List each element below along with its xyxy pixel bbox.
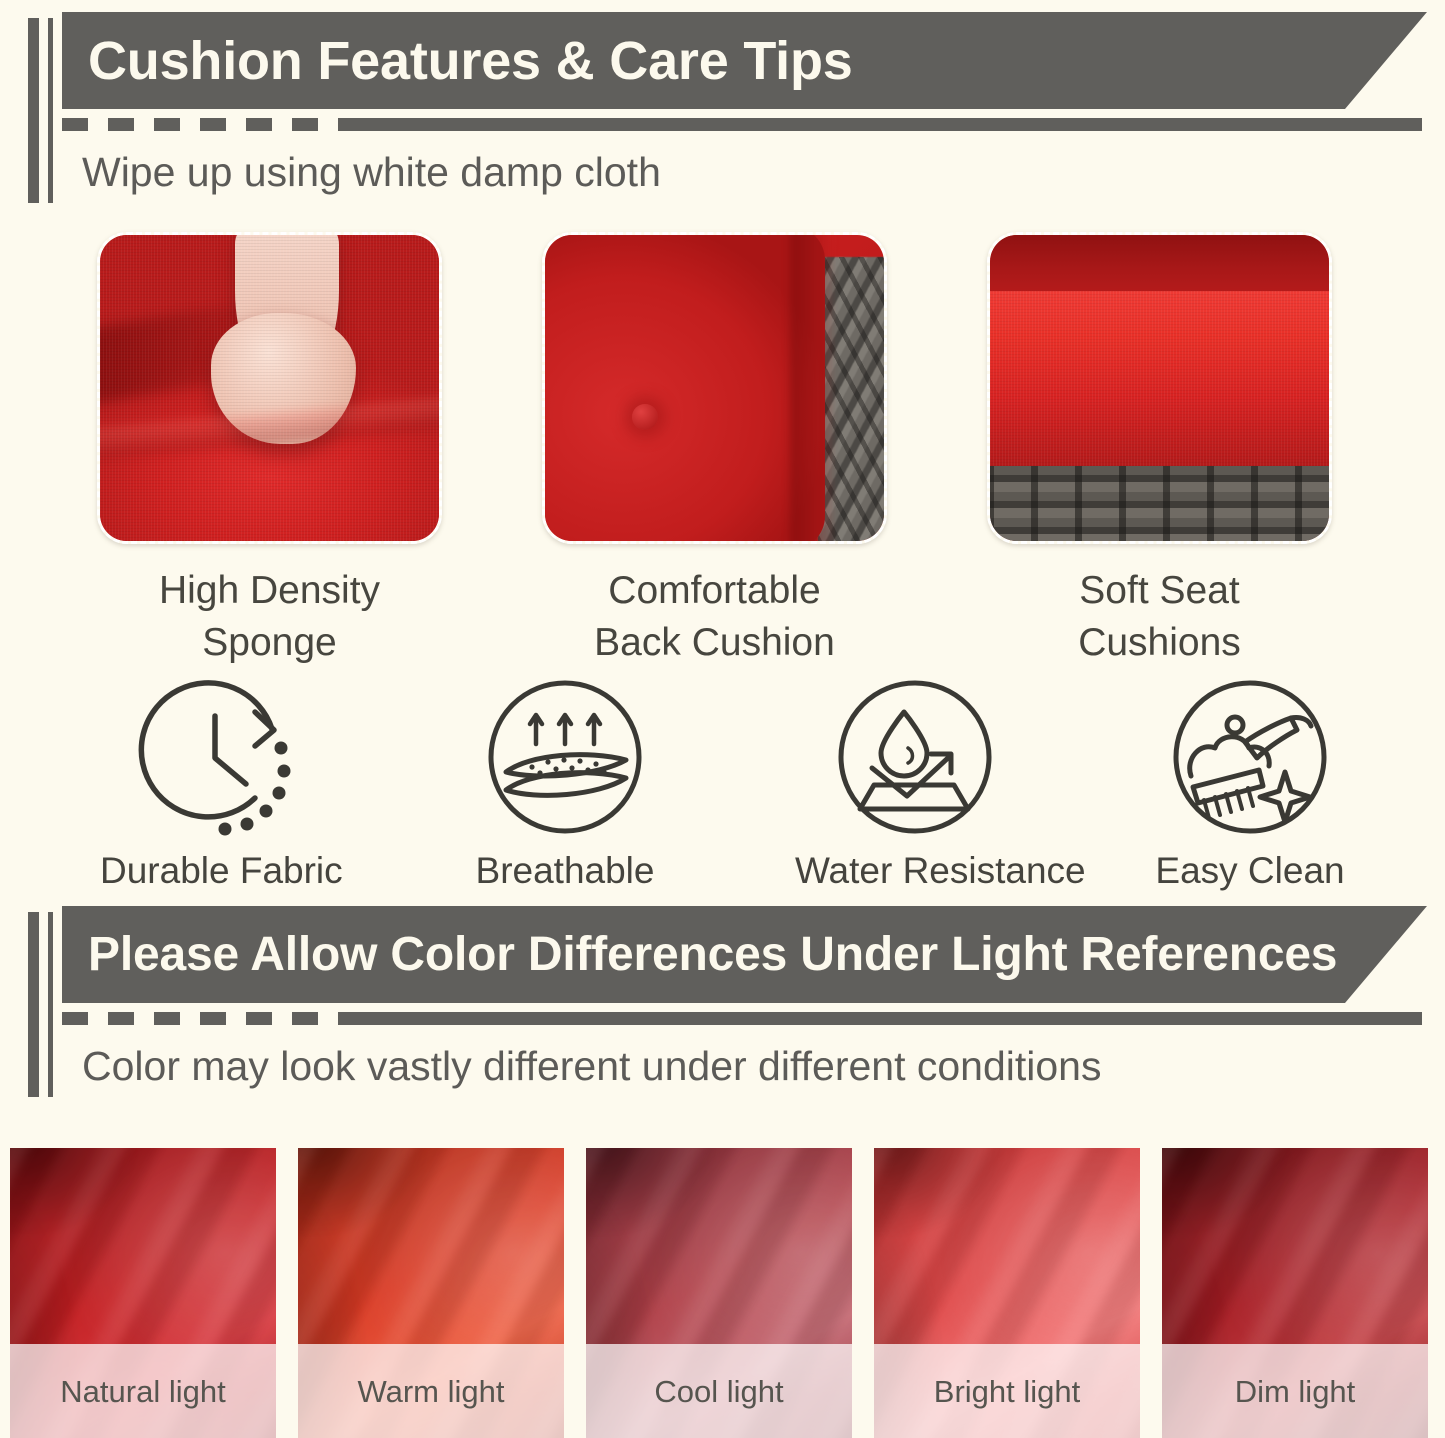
swatch-label-warm-light: Warm light [358,1376,505,1407]
photo-caption-2-line1: Comfortable [542,565,887,617]
section-title-2: Please Allow Color Differences Under Lig… [62,931,1337,979]
swatch-label-band-2: Warm light [298,1344,564,1438]
divider-dash [62,1012,88,1025]
divider-dash [200,1012,226,1025]
left-rail-thick-2 [28,912,39,1097]
page-title: Cushion Features & Care Tips [62,34,853,88]
divider-dash [62,118,88,131]
photo-caption-1-line2: Sponge [97,617,442,669]
swatch-bright-light: Bright light [874,1148,1140,1438]
photo-caption-2: Comfortable Back Cushion [542,565,887,669]
photo-caption-3-line1: Soft Seat [987,565,1332,617]
photo-caption-2-line2: Back Cushion [542,617,887,669]
divider-dash [200,118,226,131]
left-rail-thick-1 [28,18,39,203]
swatch-label-band-4: Bright light [874,1344,1140,1438]
feature-easy-clean: Easy Clean [1130,672,1370,889]
divider-dash [246,118,272,131]
photo-caption-3: Soft Seat Cushions [987,565,1332,669]
clock-arrow-icon [133,672,308,842]
divider-dash [108,1012,134,1025]
breathable-fabric-arrows-icon [478,672,653,842]
swatch-label-dim-light: Dim light [1235,1376,1356,1407]
photo-comfortable-back-cushion [542,232,887,544]
infographic-page: Cushion Features & Care Tips Wipe up usi… [0,0,1445,1438]
feature-photo-row [0,232,1445,562]
feature-label-durable-fabric: Durable Fabric [100,852,340,889]
swatch-warm-light: Warm light [298,1148,564,1438]
feature-water-resistance: Water Resistance [795,672,1035,889]
feature-label-water-resistance: Water Resistance [795,852,1035,889]
swatch-label-bright-light: Bright light [934,1376,1080,1407]
section-subtitle-2: Color may look vastly different under di… [82,1046,1101,1087]
photo-caption-1: High Density Sponge [97,565,442,669]
color-swatch-row: Natural light Warm light Cool light [0,1148,1445,1438]
divider-dash [292,1012,318,1025]
swatch-label-band-5: Dim light [1162,1344,1428,1438]
banner-title-wrap-1: Cushion Features & Care Tips [62,12,1345,109]
swatch-label-natural-light: Natural light [60,1376,225,1407]
divider-dash [246,1012,272,1025]
divider-dash [154,1012,180,1025]
banner-title-wrap-2: Please Allow Color Differences Under Lig… [62,906,1345,1003]
divider-dash [108,118,134,131]
feature-label-breathable: Breathable [445,852,685,889]
divider-solid [338,118,1422,131]
divider-2 [62,1012,1422,1025]
divider-1 [62,118,1422,131]
divider-dash [154,118,180,131]
feature-durable-fabric: Durable Fabric [100,672,340,889]
feature-label-easy-clean: Easy Clean [1130,852,1370,889]
photo-soft-seat-cushions [987,232,1332,544]
swatch-cool-light: Cool light [586,1148,852,1438]
photo-card-comfortable-back-cushion [542,232,887,544]
swatch-dim-light: Dim light [1162,1148,1428,1438]
photo-caption-3-line2: Cushions [987,617,1332,669]
divider-solid [338,1012,1422,1025]
section-subtitle-1: Wipe up using white damp cloth [82,152,661,193]
swatch-label-band-3: Cool light [586,1344,852,1438]
photo-card-soft-seat-cushions [987,232,1332,544]
photo-card-high-density-sponge [97,232,442,544]
left-rail-thin-1 [48,18,53,203]
swatch-label-band-1: Natural light [10,1344,276,1438]
feature-breathable: Breathable [445,672,685,889]
photo-caption-1-line1: High Density [97,565,442,617]
water-droplet-repel-icon [828,672,1003,842]
left-rail-thin-2 [48,912,53,1097]
swatch-natural-light: Natural light [10,1148,276,1438]
swatch-label-cool-light: Cool light [654,1376,783,1407]
scrub-brush-sparkle-icon [1163,672,1338,842]
photo-high-density-sponge [97,232,442,544]
divider-dash [292,118,318,131]
